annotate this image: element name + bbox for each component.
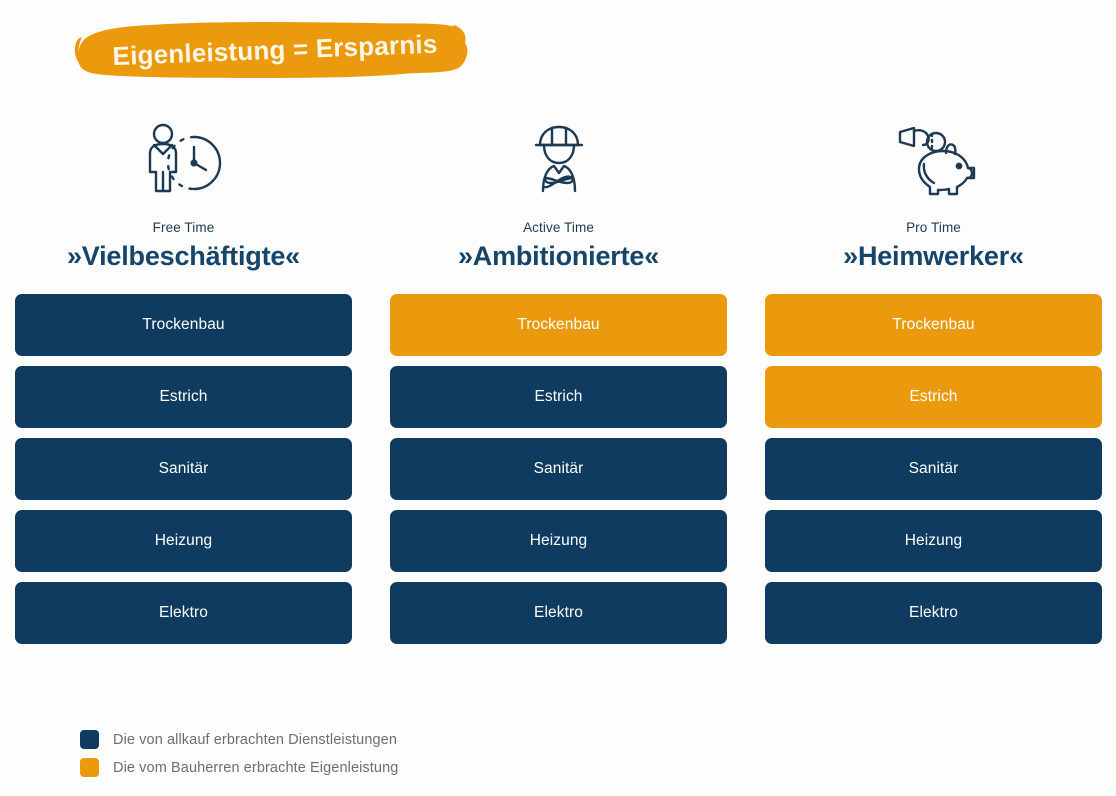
persona-kicker: Free Time (15, 220, 352, 235)
persona-column-heimwerker: Pro Time »Heimwerker« Trockenbau Estrich… (765, 120, 1102, 644)
persona-columns: Free Time »Vielbeschäftigte« Trockenbau … (15, 120, 1102, 644)
service-bar-sanitaer[interactable]: Sanitär (15, 438, 352, 500)
banner-title-visible: Eigenleistung = Ersparnis (71, 6, 473, 93)
person-with-clock-icon (15, 120, 352, 198)
legend-swatch-navy (80, 730, 99, 749)
service-bar-heizung[interactable]: Heizung (765, 510, 1102, 572)
persona-column-ambitionierte: Active Time »Ambitionierte« Trockenbau E… (390, 120, 727, 644)
legend-label-allkauf: Die von allkauf erbrachten Dienstleistun… (113, 732, 397, 748)
service-bar-elektro[interactable]: Elektro (765, 582, 1102, 644)
service-bars: Trockenbau Estrich Sanitär Heizung Elekt… (390, 294, 727, 644)
persona-title: »Vielbeschäftigte« (15, 241, 352, 272)
service-bar-estrich[interactable]: Estrich (765, 366, 1102, 428)
service-bar-elektro[interactable]: Elektro (390, 582, 727, 644)
worker-hardhat-crossed-arms-icon (390, 120, 727, 198)
service-bar-trockenbau[interactable]: Trockenbau (390, 294, 727, 356)
legend-swatch-orange (80, 758, 99, 777)
service-bar-heizung[interactable]: Heizung (15, 510, 352, 572)
service-bar-estrich[interactable]: Estrich (15, 366, 352, 428)
headline-banner: Eigenleistung = Ersparnis Eigenleistung … (72, 14, 472, 86)
legend: Die von allkauf erbrachten Dienstleistun… (80, 730, 398, 777)
service-bars: Trockenbau Estrich Sanitär Heizung Elekt… (765, 294, 1102, 644)
service-bar-sanitaer[interactable]: Sanitär (390, 438, 727, 500)
legend-row-bauherr: Die vom Bauherren erbrachte Eigenleistun… (80, 758, 398, 777)
persona-kicker: Active Time (390, 220, 727, 235)
service-bar-elektro[interactable]: Elektro (15, 582, 352, 644)
legend-label-bauherr: Die vom Bauherren erbrachte Eigenleistun… (113, 760, 398, 776)
service-bar-heizung[interactable]: Heizung (390, 510, 727, 572)
persona-kicker: Pro Time (765, 220, 1102, 235)
persona-title: »Heimwerker« (765, 241, 1102, 272)
service-bars: Trockenbau Estrich Sanitär Heizung Elekt… (15, 294, 352, 644)
persona-column-vielbeschaeftigte: Free Time »Vielbeschäftigte« Trockenbau … (15, 120, 352, 644)
persona-title: »Ambitionierte« (390, 241, 727, 272)
legend-row-allkauf: Die von allkauf erbrachten Dienstleistun… (80, 730, 398, 749)
service-bar-estrich[interactable]: Estrich (390, 366, 727, 428)
service-bar-trockenbau[interactable]: Trockenbau (765, 294, 1102, 356)
service-bar-trockenbau[interactable]: Trockenbau (15, 294, 352, 356)
service-bar-sanitaer[interactable]: Sanitär (765, 438, 1102, 500)
piggy-bank-with-coin-icon (765, 120, 1102, 198)
